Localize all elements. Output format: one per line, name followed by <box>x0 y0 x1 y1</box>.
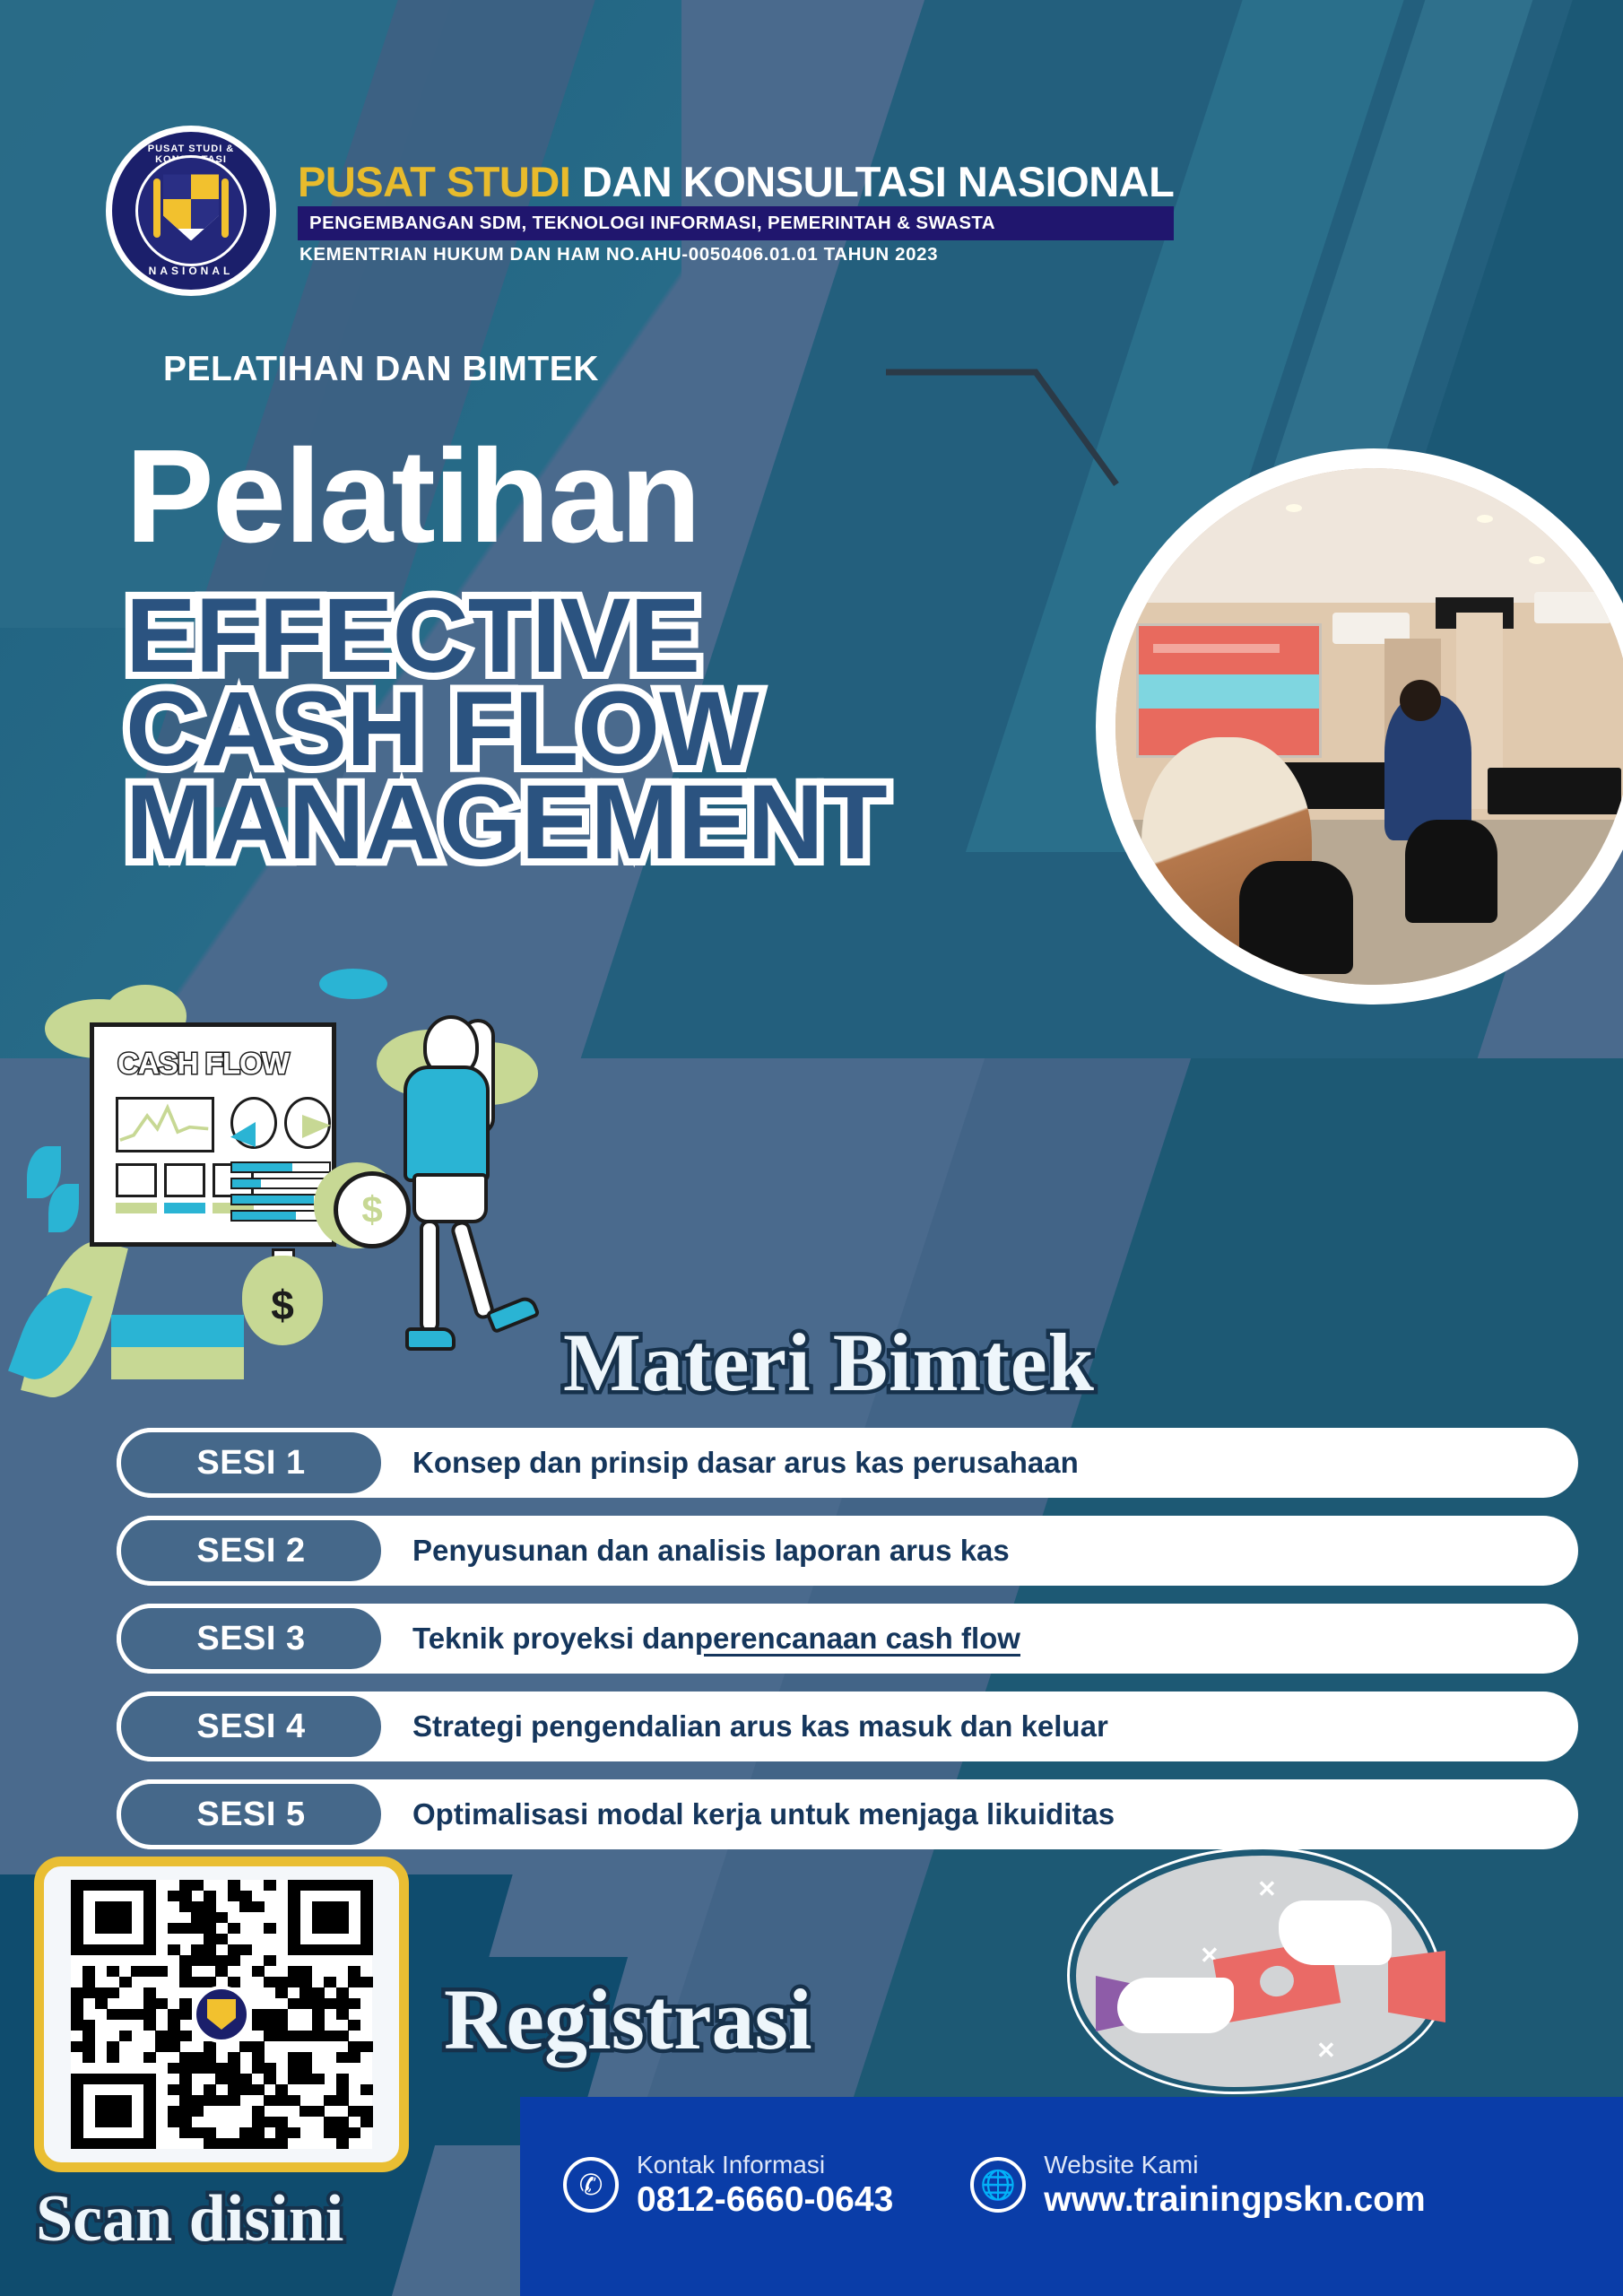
cashflow-illustration: CASH FLOW $ $ <box>18 969 610 1453</box>
session-desc-text: Konsep dan prinsip dasar arus kas perusa… <box>412 1446 1079 1480</box>
contact-footer: ✆ Kontak Informasi 0812-6660-0643 🌐 Webs… <box>520 2097 1623 2296</box>
brand-header: PUSAT STUDI & KONSULTASI NASIONAL PUSAT … <box>106 126 1174 296</box>
session-description: Penyusunan dan analisis laporan arus kas <box>412 1516 1010 1586</box>
session-list: SESI 1 Konsep dan prinsip dasar arus kas… <box>117 1428 1578 1867</box>
session-desc-text: Teknik proyeksi dan <box>412 1622 695 1656</box>
brand-legal: KEMENTRIAN HUKUM DAN HAM NO.AHU-0050406.… <box>298 244 1174 265</box>
brand-name-part2: DAN KONSULTASI NASIONAL <box>582 158 1174 205</box>
contact-label: Kontak Informasi <box>637 2149 893 2180</box>
list-item[interactable]: SESI 1 Konsep dan prinsip dasar arus kas… <box>117 1428 1578 1498</box>
hero-subtitle: EFFECTIVE CASH FLOW MANAGEMENT <box>126 590 1031 869</box>
session-description: Teknik proyeksi dan perencanaan cash flo… <box>412 1604 1020 1674</box>
materi-heading: Materi Bimtek <box>563 1315 1095 1410</box>
brand-name: PUSAT STUDI DAN KONSULTASI NASIONAL <box>298 161 1174 203</box>
session-pill: SESI 4 <box>117 1692 386 1761</box>
brand-name-part1: PUSAT STUDI <box>298 158 582 205</box>
money-bag-icon: $ <box>242 1256 323 1345</box>
session-desc-underline: perencanaan cash flow <box>695 1622 1020 1656</box>
hero-kicker: PELATIHAN DAN BIMTEK <box>163 350 599 389</box>
poster-root: PUSAT STUDI & KONSULTASI NASIONAL PUSAT … <box>0 0 1623 2296</box>
scan-label: Scan disini <box>36 2181 343 2257</box>
session-desc-text: Strategi pengendalian arus kas masuk dan… <box>412 1709 1108 1744</box>
logo-wheat-right-icon <box>221 178 229 238</box>
session-label: SESI 4 <box>196 1708 305 1746</box>
logo-arc-bottom-text: NASIONAL <box>112 265 270 277</box>
contact-value: 0812-6660-0643 <box>637 2180 893 2221</box>
website-label: Website Kami <box>1044 2149 1425 2180</box>
session-label: SESI 1 <box>196 1444 305 1483</box>
qr-code-card[interactable] <box>34 1857 409 2172</box>
money-exchange-illustration: ✕ ✕ ✕ <box>1067 1843 1453 2103</box>
page-title: Pelatihan <box>126 430 699 563</box>
hero-subtitle-line3: MANAGEMENT <box>126 777 1031 870</box>
session-description: Optimalisasi modal kerja untuk menjaga l… <box>412 1779 1115 1849</box>
session-desc-text: Penyusunan dan analisis laporan arus kas <box>412 1534 1010 1568</box>
session-label: SESI 2 <box>196 1532 305 1570</box>
logo-wheat-left-icon <box>153 178 161 238</box>
list-item[interactable]: SESI 5 Optimalisasi modal kerja untuk me… <box>117 1779 1578 1849</box>
list-item[interactable]: SESI 4 Strategi pengendalian arus kas ma… <box>117 1692 1578 1761</box>
coin-icon: $ <box>334 1171 411 1248</box>
session-label: SESI 5 <box>196 1796 305 1834</box>
session-pill: SESI 5 <box>117 1779 386 1849</box>
hand-right-icon <box>1279 1900 1392 1965</box>
website-value: www.trainingpskn.com <box>1044 2180 1425 2221</box>
globe-icon: 🌐 <box>970 2157 1026 2213</box>
phone-icon: ✆ <box>563 2157 619 2213</box>
session-pill: SESI 3 <box>117 1604 386 1674</box>
organization-logo: PUSAT STUDI & KONSULTASI NASIONAL <box>106 126 276 296</box>
seminar-photo <box>1115 468 1623 985</box>
brand-text-block: PUSAT STUDI DAN KONSULTASI NASIONAL PENG… <box>298 157 1174 265</box>
session-label: SESI 3 <box>196 1620 305 1658</box>
dashboard-title: CASH FLOW <box>117 1047 289 1081</box>
brand-tagline: PENGEMBANGAN SDM, TEKNOLOGI INFORMASI, P… <box>298 206 1174 240</box>
session-description: Konsep dan prinsip dasar arus kas perusa… <box>412 1428 1079 1498</box>
contact-phone-item[interactable]: ✆ Kontak Informasi 0812-6660-0643 <box>563 2149 893 2221</box>
session-pill: SESI 1 <box>117 1428 386 1498</box>
session-desc-text: Optimalisasi modal kerja untuk menjaga l… <box>412 1797 1115 1831</box>
session-pill: SESI 2 <box>117 1516 386 1586</box>
registration-heading: Registrasi <box>444 1970 812 2069</box>
contact-website-item[interactable]: 🌐 Website Kami www.trainingpskn.com <box>970 2149 1425 2221</box>
cashflow-dashboard: CASH FLOW <box>90 1022 336 1247</box>
qr-code[interactable] <box>71 1880 372 2149</box>
list-item[interactable]: SESI 2 Penyusunan dan analisis laporan a… <box>117 1516 1578 1586</box>
session-description: Strategi pengendalian arus kas masuk dan… <box>412 1692 1108 1761</box>
cash-stack-icon <box>111 1315 244 1379</box>
seminar-photo-frame <box>1096 448 1623 1004</box>
qr-center-logo-icon <box>193 1986 250 2043</box>
hand-left-icon <box>1117 1978 1234 2033</box>
list-item[interactable]: SESI 3 Teknik proyeksi dan perencanaan c… <box>117 1604 1578 1674</box>
